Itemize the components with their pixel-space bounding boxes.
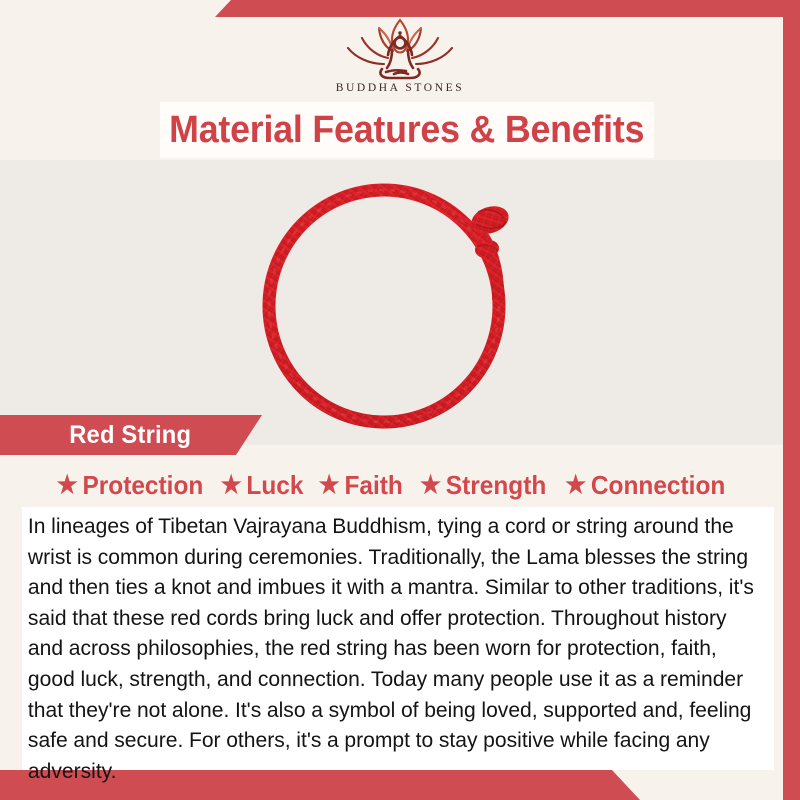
red-string-bracelet-image bbox=[256, 160, 546, 443]
lotus-meditation-icon bbox=[334, 14, 466, 80]
logo-hands-icon bbox=[398, 31, 402, 35]
star-icon: ★ bbox=[221, 473, 242, 498]
benefit-label: Faith bbox=[345, 470, 403, 501]
description-panel: In lineages of Tibetan Vajrayana Buddhis… bbox=[22, 507, 774, 770]
decor-right-red-bar bbox=[783, 0, 800, 800]
benefit-item-protection: ★ Protection bbox=[57, 470, 204, 501]
product-label-banner: Red String bbox=[0, 415, 262, 455]
benefit-item-faith: ★ Faith bbox=[319, 470, 403, 501]
star-icon: ★ bbox=[420, 473, 441, 498]
star-icon: ★ bbox=[57, 473, 78, 498]
benefit-label: Luck bbox=[247, 470, 304, 501]
brand-name: BUDDHA STONES bbox=[336, 82, 464, 94]
page-title-band: Material Features & Benefits bbox=[160, 102, 654, 158]
benefit-label: Strength bbox=[446, 470, 546, 501]
benefit-label: Protection bbox=[83, 470, 204, 501]
product-label: Red String bbox=[69, 421, 191, 450]
logo-head-icon bbox=[395, 38, 406, 49]
page-title: Material Features & Benefits bbox=[169, 109, 644, 152]
star-icon: ★ bbox=[319, 473, 340, 498]
benefit-item-luck: ★ Luck bbox=[221, 470, 304, 501]
product-image-panel bbox=[0, 160, 783, 445]
description-text: In lineages of Tibetan Vajrayana Buddhis… bbox=[22, 507, 763, 786]
brand-logo: BUDDHA STONES bbox=[0, 14, 800, 94]
star-icon: ★ bbox=[565, 473, 586, 498]
benefit-item-connection: ★ Connection bbox=[565, 470, 725, 501]
benefit-item-strength: ★ Strength bbox=[420, 470, 546, 501]
infographic-page: BUDDHA STONES Material Features & Benefi… bbox=[0, 0, 800, 800]
benefits-list: ★ Protection ★ Luck ★ Faith ★ Strength ★… bbox=[0, 466, 783, 504]
benefit-label: Connection bbox=[591, 470, 725, 501]
